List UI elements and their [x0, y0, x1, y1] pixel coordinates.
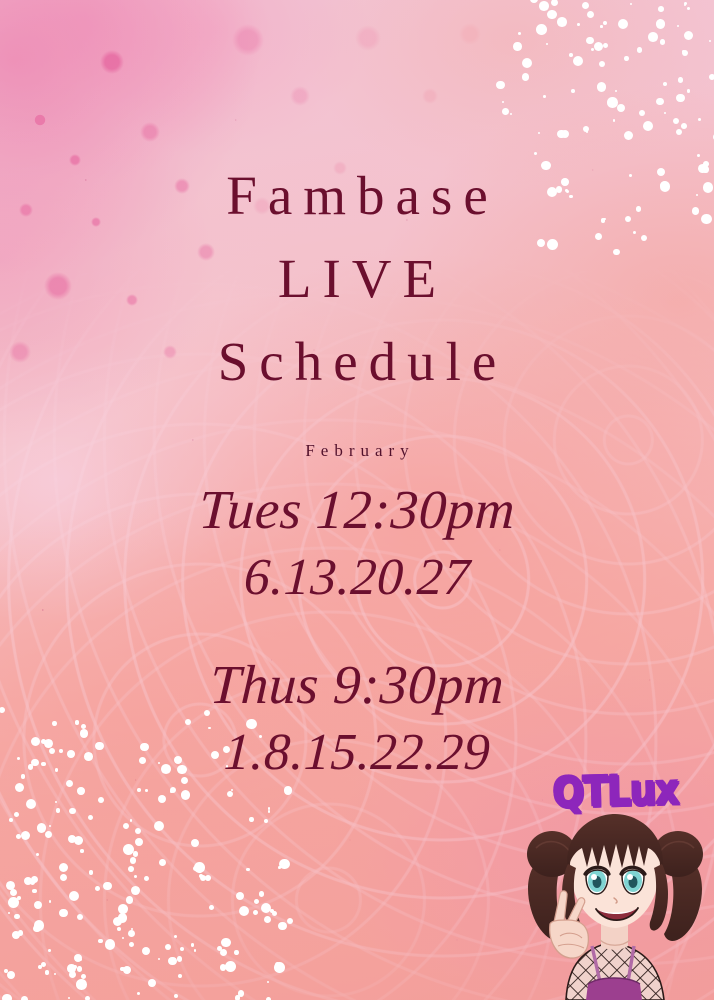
anime-girl-illustration — [508, 814, 714, 1000]
schedule-entry-thursday: Thus 9:30pm 1.8.15.22.29 — [210, 650, 504, 787]
schedule-day-time: Thus 9:30pm — [208, 650, 506, 720]
page-title-line-1: Fambase — [215, 168, 499, 223]
schedule-day-time: Tues 12:30pm — [197, 475, 517, 545]
page-title-line-3: Schedule — [207, 334, 508, 389]
brand-logo-qtlux: QTLux — [552, 766, 679, 818]
schedule-dates: 1.8.15.22.29 — [208, 720, 506, 787]
schedule-entry-tuesday: Tues 12:30pm 6.13.20.27 — [199, 475, 515, 612]
poster-canvas: Fambase LIVE Schedule February Tues 12:3… — [0, 0, 714, 1000]
month-label: February — [299, 441, 414, 461]
page-title-line-2: LIVE — [267, 251, 447, 306]
schedule-dates: 6.13.20.27 — [197, 545, 517, 612]
